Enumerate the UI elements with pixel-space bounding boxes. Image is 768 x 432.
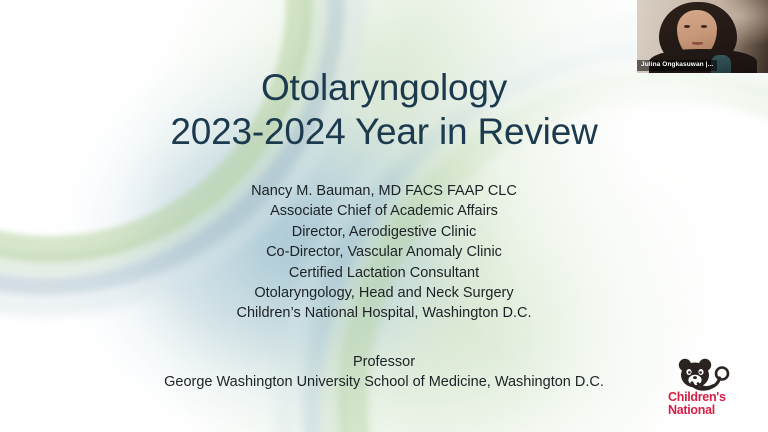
participant-mouth	[692, 42, 703, 45]
credential-line: Certified Lactation Consultant	[0, 263, 768, 283]
logo-wordmark: Children's National	[668, 391, 752, 416]
credential-line: Director, Aerodigestive Clinic	[0, 222, 768, 242]
credential-line: Associate Chief of Academic Affairs	[0, 201, 768, 221]
logo-wordmark-line-2: National	[668, 404, 752, 417]
credential-line: Children’s National Hospital, Washington…	[0, 303, 768, 323]
credential-line: Co-Director, Vascular Anomaly Clinic	[0, 242, 768, 262]
credential-line: Nancy M. Bauman, MD FACS FAAP CLC	[0, 181, 768, 201]
presentation-slide: Otolaryngology 2023-2024 Year in Review …	[0, 0, 768, 432]
presenter-affiliation: Professor George Washington University S…	[0, 352, 768, 393]
affiliation-line: George Washington University School of M…	[0, 372, 768, 392]
participant-eye-right	[701, 25, 707, 28]
logo-wordmark-line-1: Children's	[668, 391, 752, 404]
participant-video-tile[interactable]: Julina Ongkasuwan |...	[637, 0, 768, 73]
bear-with-stethoscope-icon	[672, 358, 734, 392]
presenter-credentials: Nancy M. Bauman, MD FACS FAAP CLC Associ…	[0, 181, 768, 324]
participant-eye-left	[684, 25, 690, 28]
childrens-national-logo: Children's National	[666, 358, 752, 420]
participant-name-label: Julina Ongkasuwan |...	[637, 60, 717, 71]
affiliation-line: Professor	[0, 352, 768, 372]
credential-line: Otolaryngology, Head and Neck Surgery	[0, 283, 768, 303]
slide-title: Otolaryngology 2023-2024 Year in Review	[0, 66, 768, 154]
